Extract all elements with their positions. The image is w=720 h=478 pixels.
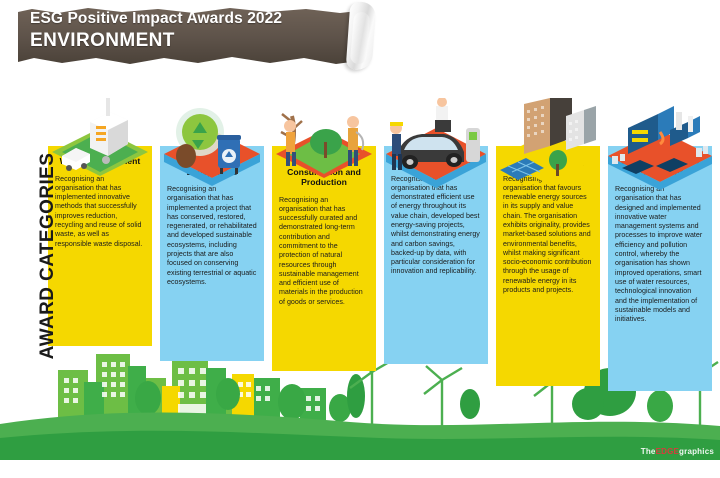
category-columns: Waste ManagementRecognising an organisat… <box>48 100 720 440</box>
page-title: ENVIRONMENT <box>30 30 360 52</box>
category-description: Recognising an organisation that has imp… <box>167 185 257 287</box>
category-description: Recognising an organisation that favours… <box>503 175 593 296</box>
solar-panel-buildings-icon <box>492 98 604 190</box>
header-text-group: ESG Positive Impact Awards 2022 ENVIRONM… <box>30 10 360 52</box>
factory-recycling-truck-icon <box>44 98 156 190</box>
water-treatment-plant-icon <box>604 98 716 190</box>
watermark-suffix: graphics <box>679 447 714 456</box>
header-eyebrow: ESG Positive Impact Awards 2022 <box>30 10 360 28</box>
watermark-accent: EDGE <box>656 447 679 456</box>
electric-vehicle-charging-icon <box>380 98 492 190</box>
watermark-prefix: The <box>641 447 656 456</box>
category-description: Recognising an organisation that has des… <box>615 185 705 324</box>
recycling-globe-bin-icon <box>156 98 268 190</box>
watermark: TheEDGEgraphics <box>641 447 714 456</box>
category-description: Recognising an organisation that has suc… <box>279 196 369 308</box>
award-categories-label: AWARD CATEGORIES <box>37 146 59 366</box>
infographic-canvas: ESG Positive Impact Awards 2022 ENVIRONM… <box>0 0 720 478</box>
tree-planting-farmers-icon <box>268 98 380 190</box>
footer-strip <box>0 460 720 478</box>
